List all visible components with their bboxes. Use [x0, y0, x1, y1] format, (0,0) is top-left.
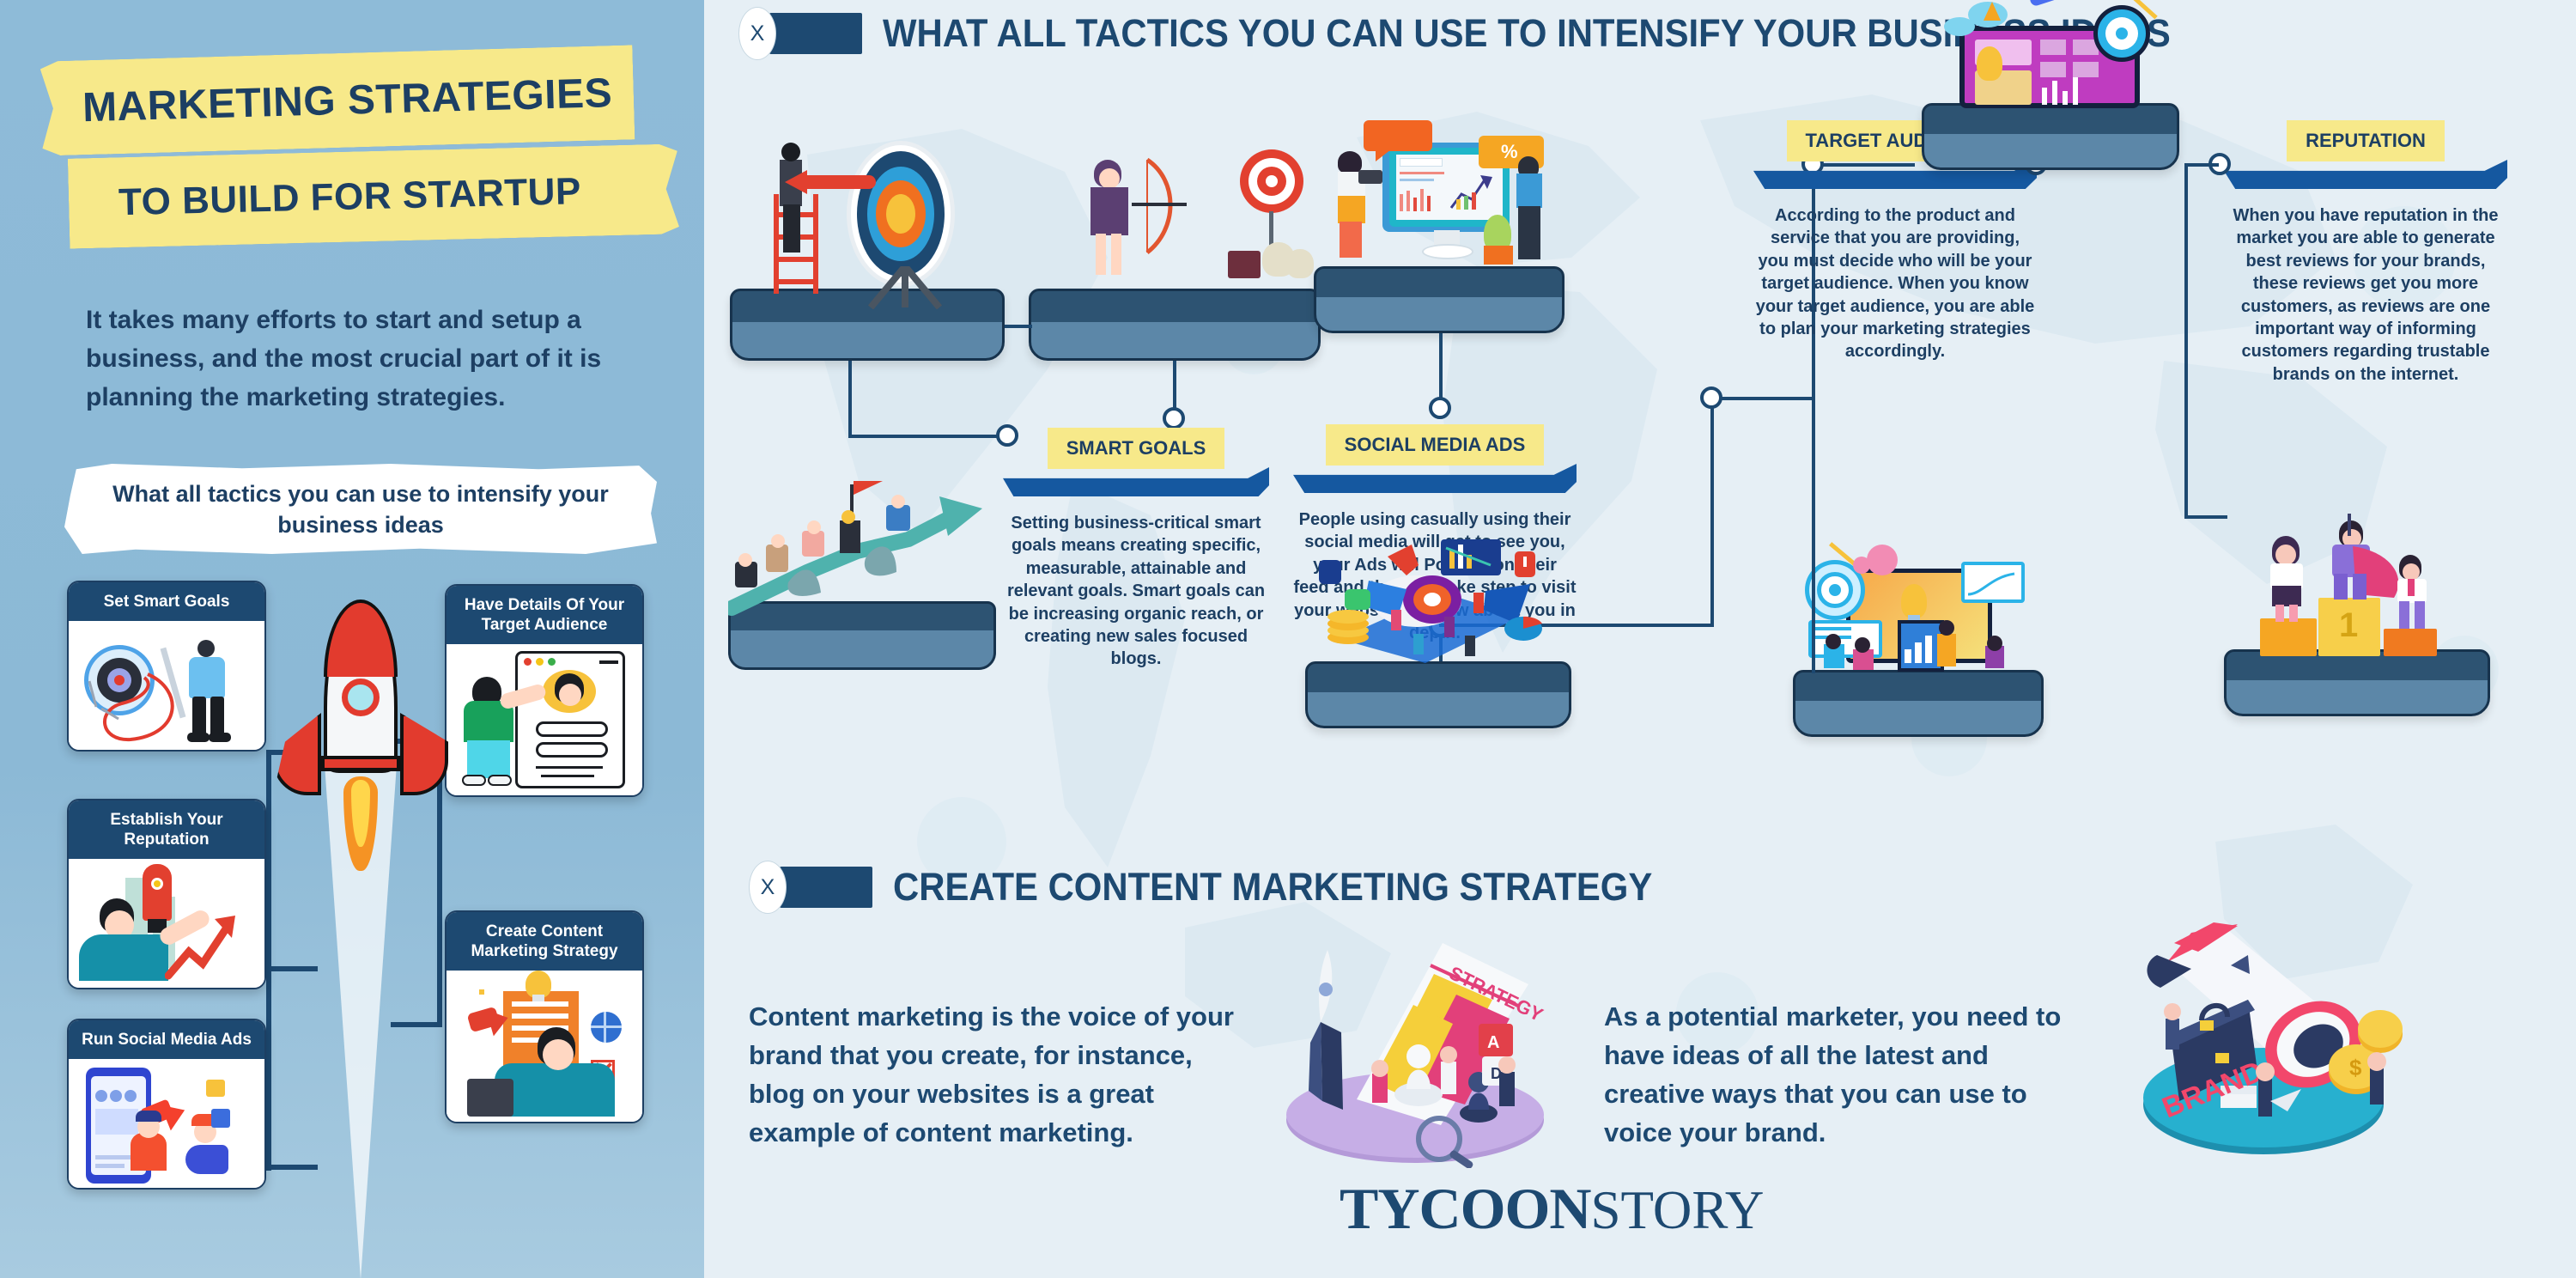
content-bulb-globe-icon — [447, 971, 642, 1122]
card-title: Have Details Of Your Target Audience — [447, 586, 642, 644]
card-title: Run Social Media Ads — [69, 1020, 264, 1059]
card-title: Create Content Marketing Strategy — [447, 912, 642, 971]
callout-chip-label: REPUTATION — [2287, 120, 2445, 161]
platform-winner-podium — [2224, 649, 2490, 716]
title-ribbons: MARKETING STRATEGIES TO BUILD FOR STARTU… — [0, 34, 704, 232]
card-set-smart-goals[interactable]: Set Smart Goals — [67, 581, 266, 752]
platform-purple-dashboard — [1922, 103, 2179, 170]
brush-band-text: What all tactics you can use to intensif… — [64, 469, 657, 551]
purple-dashboard-target-icon — [1922, 0, 2179, 108]
tycoonstory-logo: TYCOONSTORY — [1340, 1175, 1764, 1243]
callout-smart-goals: SMART GOALS Setting business-critical sm… — [1003, 428, 1269, 671]
callout-chip-label: SOCIAL MEDIA ADS — [1326, 424, 1545, 466]
node-dot-e — [1700, 386, 1722, 409]
node-dot-c — [1429, 397, 1451, 419]
callout-text: According to the product and service tha… — [1753, 204, 2037, 363]
title-ribbon-primary: MARKETING STRATEGIES — [40, 45, 635, 155]
section-tab-bar — [769, 13, 862, 54]
megaphone-isometric-growth-icon — [1305, 527, 1571, 669]
connector-platform-a-b — [1005, 325, 1032, 328]
svg-text:A: A — [1487, 1033, 1499, 1052]
title-ribbon-secondary: TO BUILD FOR STARTUP — [68, 143, 679, 248]
node-dot-b — [1163, 407, 1185, 429]
archer-bow-target-icon — [1029, 137, 1321, 296]
platform-archer — [1029, 289, 1321, 361]
card-create-content-strategy[interactable]: Create Content Marketing Strategy — [445, 910, 644, 1123]
platform-megaphone — [1305, 661, 1571, 728]
connector-reputation-left — [2184, 163, 2219, 167]
card-run-social-media-ads[interactable]: Run Social Media Ads — [67, 1019, 266, 1190]
intro-paragraph: It takes many efforts to start and setup… — [86, 301, 644, 417]
platform-office-team — [1793, 670, 2044, 737]
connector-reputation-down — [2184, 163, 2188, 515]
connector-card-5 — [391, 1022, 442, 1027]
connector-reputation-bottom — [2184, 515, 2227, 519]
callout-text: Setting business-critical smart goals me… — [1003, 512, 1269, 671]
desktop-analytics-people-icon: % — [1314, 120, 1564, 275]
section-title: CREATE CONTENT MARKETING STRATEGY — [893, 865, 1652, 910]
bottom-text-left: Content marketing is the voice of your b… — [749, 998, 1238, 1153]
connector-card-2 — [266, 966, 318, 971]
connector-spine-left — [266, 750, 271, 1171]
left-panel: MARKETING STRATEGIES TO BUILD FOR STARTU… — [0, 0, 704, 1278]
card-establish-reputation[interactable]: Establish Your Reputation — [67, 799, 266, 989]
phone-megaphone-social-icon — [69, 1059, 264, 1188]
section-badge-icon: X — [749, 861, 787, 914]
svg-text:$: $ — [2349, 1055, 2362, 1080]
section-header-content-strategy: X CREATE CONTENT MARKETING STRATEGY — [749, 861, 1710, 914]
connector-right-a — [848, 435, 1003, 438]
connector-card-3 — [266, 1165, 318, 1170]
callout-chip-shadow — [1003, 467, 1269, 496]
callout-reputation: REPUTATION When you have reputation in t… — [2224, 120, 2507, 386]
callout-chip-shadow — [1293, 464, 1577, 493]
callout-chip-label: SMART GOALS — [1048, 428, 1225, 469]
rocket-nose-cone — [324, 599, 398, 677]
connector-up-f — [1812, 503, 1815, 673]
section-tab-bar — [780, 867, 872, 908]
brand-megaphone-isometric-icon: $ BRAND — [2119, 917, 2411, 1166]
callout-text: When you have reputation in the market y… — [2224, 204, 2507, 386]
connector-down-c — [1439, 333, 1443, 405]
user-profile-window-icon — [447, 644, 642, 795]
callout-chip-shadow — [2224, 160, 2507, 189]
office-team-dashboard-icon — [1793, 532, 2044, 679]
archery-target-man-icon — [69, 621, 264, 750]
bottom-text-right: As a potential marketer, you need to hav… — [1604, 998, 2085, 1153]
card-title: Establish Your Reputation — [69, 800, 264, 859]
logo-bold-part: TYCOON — [1340, 1176, 1590, 1241]
winner-podium-icon: 1 — [2224, 515, 2490, 653]
platform-desktop-analytics — [1314, 266, 1564, 333]
rocket-growth-chart-icon — [69, 859, 264, 988]
rocket-stripe — [321, 756, 400, 771]
connector-down-a — [848, 361, 852, 436]
card-title: Set Smart Goals — [69, 582, 264, 621]
right-panel: X WHAT ALL TACTICS YOU CAN USE TO INTENS… — [704, 0, 2576, 1278]
connector-right-e — [1710, 397, 1812, 400]
dart-target-ladder-icon — [730, 137, 1005, 301]
connector-up-d — [1710, 397, 1714, 625]
section-badge-icon: X — [738, 7, 776, 60]
strategy-chess-rocket-icon: STRATEGY A D — [1262, 910, 1571, 1168]
infographic-root: MARKETING STRATEGIES TO BUILD FOR STARTU… — [0, 0, 2576, 1278]
growth-arrow-teamwork-icon — [728, 481, 996, 610]
card-target-audience[interactable]: Have Details Of Your Target Audience — [445, 584, 644, 797]
rocket-window — [342, 679, 380, 716]
logo-serif-part: STORY — [1590, 1180, 1764, 1240]
